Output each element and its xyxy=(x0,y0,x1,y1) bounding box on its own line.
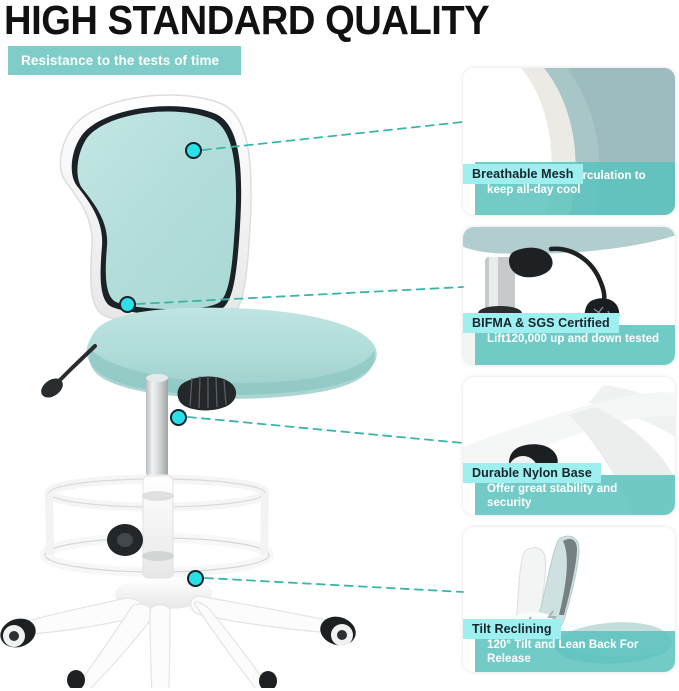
marker-nylon-base[interactable] xyxy=(170,409,187,426)
marker-bifma-sgs[interactable] xyxy=(119,296,136,313)
product-illustration xyxy=(0,78,455,688)
page-title: HIGH STANDARD QUALITY xyxy=(4,0,489,42)
feature-card-breathable-mesh[interactable]: Breathable Mesh Contributes air circulat… xyxy=(463,68,675,215)
marker-breathable-mesh[interactable] xyxy=(185,142,202,159)
feature-card-nylon-base[interactable]: Durable Nylon Base Offer great stability… xyxy=(463,377,675,515)
feature-title-tilt: Tilt Reclining xyxy=(463,619,561,639)
cylinder-top xyxy=(146,374,168,382)
subtitle-banner: Resistance to the tests of time xyxy=(8,46,241,75)
caster-right xyxy=(317,613,359,650)
feature-title-base: Durable Nylon Base xyxy=(463,463,601,483)
tilt-lever-arm xyxy=(58,346,95,382)
feature-card-bifma-sgs[interactable]: BIFMA & SGS Certified Lift120,000 up and… xyxy=(463,227,675,365)
collar-ring-top xyxy=(142,491,174,501)
collar-ring-bottom xyxy=(142,551,174,561)
chair-drawing xyxy=(0,78,455,688)
subtitle-text: Resistance to the tests of time xyxy=(8,53,219,68)
feature-card-tilt-reclining[interactable]: Tilt Reclining 120° Tilt and Lean Back F… xyxy=(463,527,675,672)
footrest-lock-center xyxy=(117,533,133,547)
base-legs xyxy=(11,596,343,688)
height-knob xyxy=(178,377,237,411)
caster-back-left xyxy=(67,670,85,688)
feature-title-lift: BIFMA & SGS Certified xyxy=(463,313,619,333)
caster-back-right xyxy=(259,671,277,688)
infographic-canvas: HIGH STANDARD QUALITY Resistance to the … xyxy=(0,0,679,691)
marker-tilt-reclining[interactable] xyxy=(187,570,204,587)
feature-title-mesh: Breathable Mesh xyxy=(463,164,583,184)
